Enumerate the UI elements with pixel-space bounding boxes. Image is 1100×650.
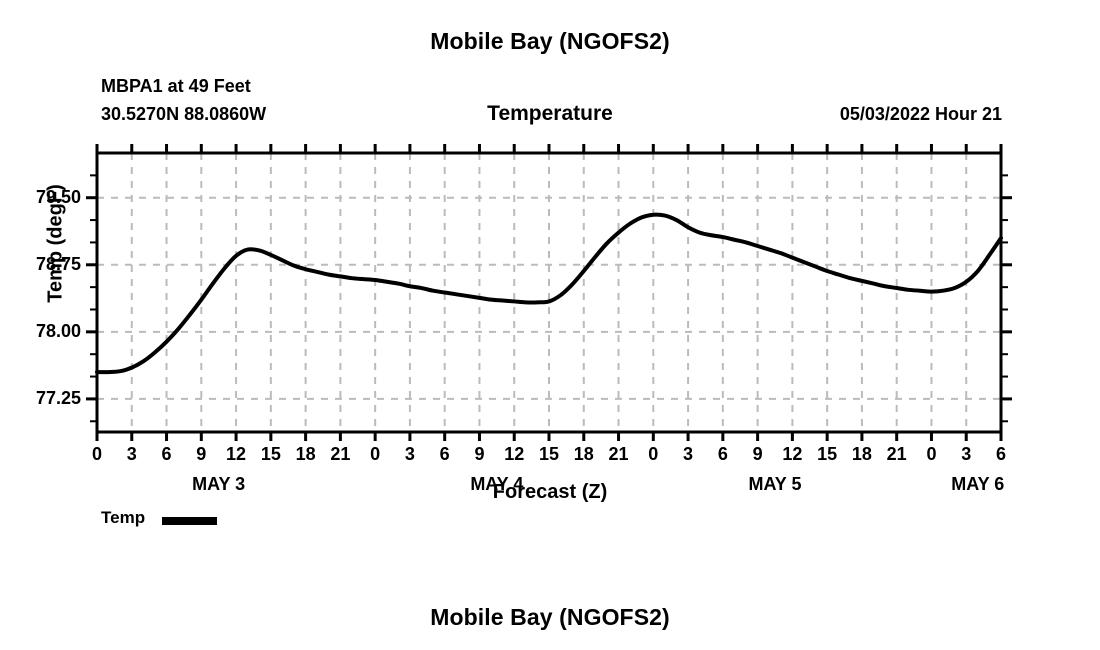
- footer-title: Mobile Bay (NGOFS2): [0, 604, 1100, 631]
- x-axis-day-label: MAY 6: [908, 474, 1048, 495]
- grid-lines: [97, 153, 1001, 432]
- axis-frame: [97, 153, 1001, 432]
- legend-swatch-temp: [162, 517, 217, 525]
- y-axis-title: Temp (degF): [45, 144, 68, 344]
- temperature-time-series-chart: [0, 0, 1100, 650]
- x-axis-day-label: MAY 4: [427, 474, 567, 495]
- y-tick-label: 78.75: [11, 254, 81, 275]
- series-temp: [97, 215, 1001, 373]
- y-tick-label: 78.00: [11, 321, 81, 342]
- station-name-label: MBPA1 at 49 Feet: [101, 76, 251, 97]
- model-run-timestamp: 05/03/2022 Hour 21: [840, 104, 1002, 125]
- y-tick-label: 79.50: [11, 187, 81, 208]
- x-axis-day-label: MAY 5: [705, 474, 845, 495]
- x-tick-label: 6: [981, 444, 1021, 465]
- x-axis-day-label: MAY 3: [149, 474, 289, 495]
- page-title: Mobile Bay (NGOFS2): [0, 28, 1100, 55]
- legend-label-temp: Temp: [101, 508, 145, 528]
- axis-ticks: [86, 144, 1012, 441]
- y-tick-label: 77.25: [11, 388, 81, 409]
